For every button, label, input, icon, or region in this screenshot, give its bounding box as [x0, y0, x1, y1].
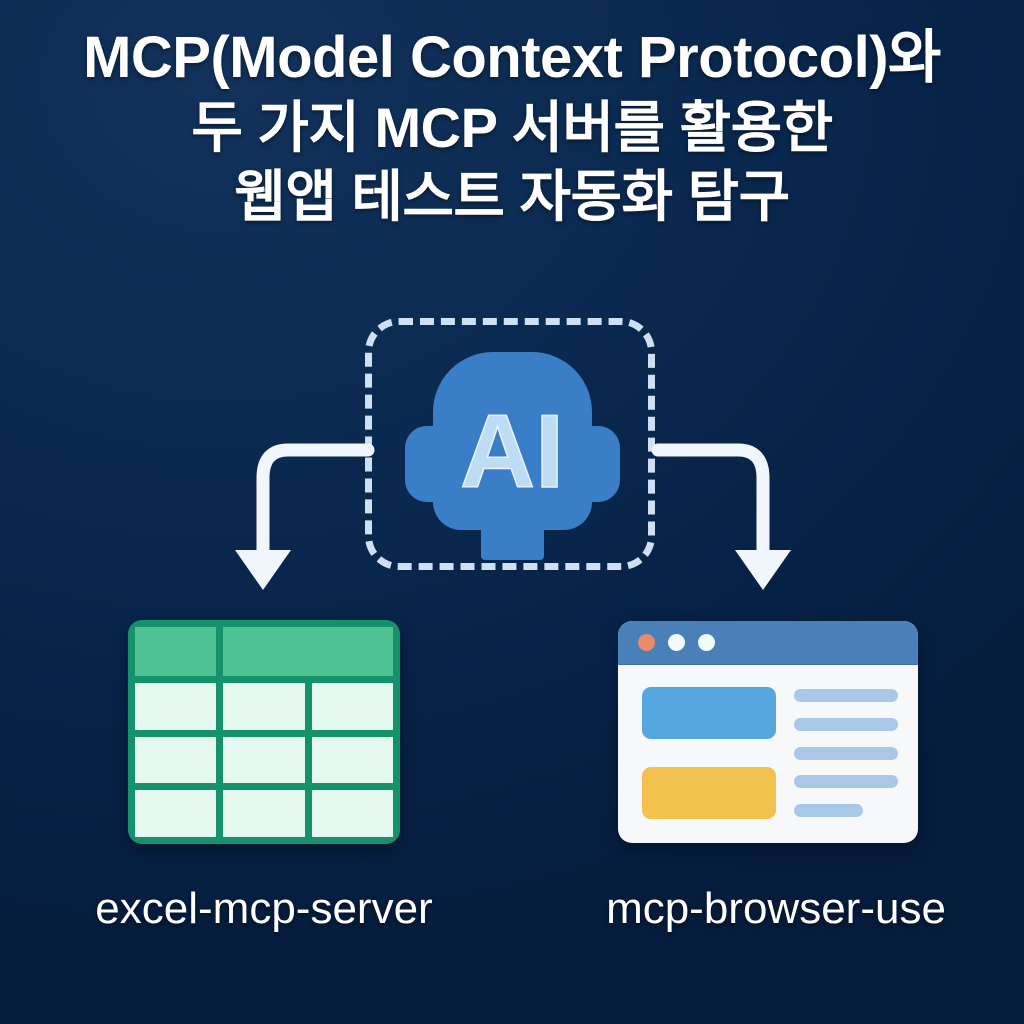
- spreadsheet-cell: [312, 790, 393, 837]
- browser-text-line: [794, 804, 863, 817]
- window-minimize-dot-icon[interactable]: [668, 634, 685, 651]
- arrow-to-browser-icon: [648, 438, 798, 603]
- spreadsheet-cell: [312, 683, 393, 730]
- browser-window-icon[interactable]: [618, 621, 918, 843]
- spreadsheet-cell: [223, 790, 304, 837]
- browser-text-lines-column: [794, 685, 898, 825]
- spreadsheet-header-cell: [223, 627, 393, 676]
- browser-blue-block: [642, 687, 776, 739]
- browser-text-line: [794, 689, 898, 702]
- browser-text-line: [794, 775, 898, 788]
- infographic-canvas: MCP(Model Context Protocol)와 두 가지 MCP 서버…: [0, 0, 1024, 1024]
- browser-yellow-block: [642, 767, 776, 819]
- spreadsheet-cell: [312, 737, 393, 784]
- title-line-3: 웹앱 테스트 자동화 탐구: [0, 166, 1024, 229]
- title-line-1: MCP(Model Context Protocol)와: [0, 26, 1024, 91]
- window-maximize-dot-icon[interactable]: [698, 634, 715, 651]
- spreadsheet-cell: [223, 737, 304, 784]
- browser-text-line: [794, 747, 898, 760]
- browser-content: [618, 665, 918, 843]
- window-close-dot-icon[interactable]: [638, 634, 655, 651]
- browser-titlebar: [618, 621, 918, 665]
- spreadsheet-cell: [223, 683, 304, 730]
- spreadsheet-cell: [135, 790, 216, 837]
- ai-robot-head-icon: AI: [405, 352, 620, 560]
- page-title: MCP(Model Context Protocol)와 두 가지 MCP 서버…: [0, 26, 1024, 228]
- caption-mcp-browser-use: mcp-browser-use: [540, 884, 1012, 934]
- ai-node: AI: [405, 352, 620, 560]
- browser-blocks-column: [642, 685, 776, 825]
- spreadsheet-icon[interactable]: [128, 620, 400, 844]
- spreadsheet-header-cell: [135, 627, 216, 676]
- browser-text-line: [794, 718, 898, 731]
- arrow-to-excel-icon: [228, 438, 378, 603]
- spreadsheet-cell: [135, 737, 216, 784]
- title-line-2: 두 가지 MCP 서버를 활용한: [0, 97, 1024, 160]
- spreadsheet-cell: [135, 683, 216, 730]
- ai-label: AI: [460, 394, 564, 510]
- caption-excel-mcp-server: excel-mcp-server: [28, 884, 500, 934]
